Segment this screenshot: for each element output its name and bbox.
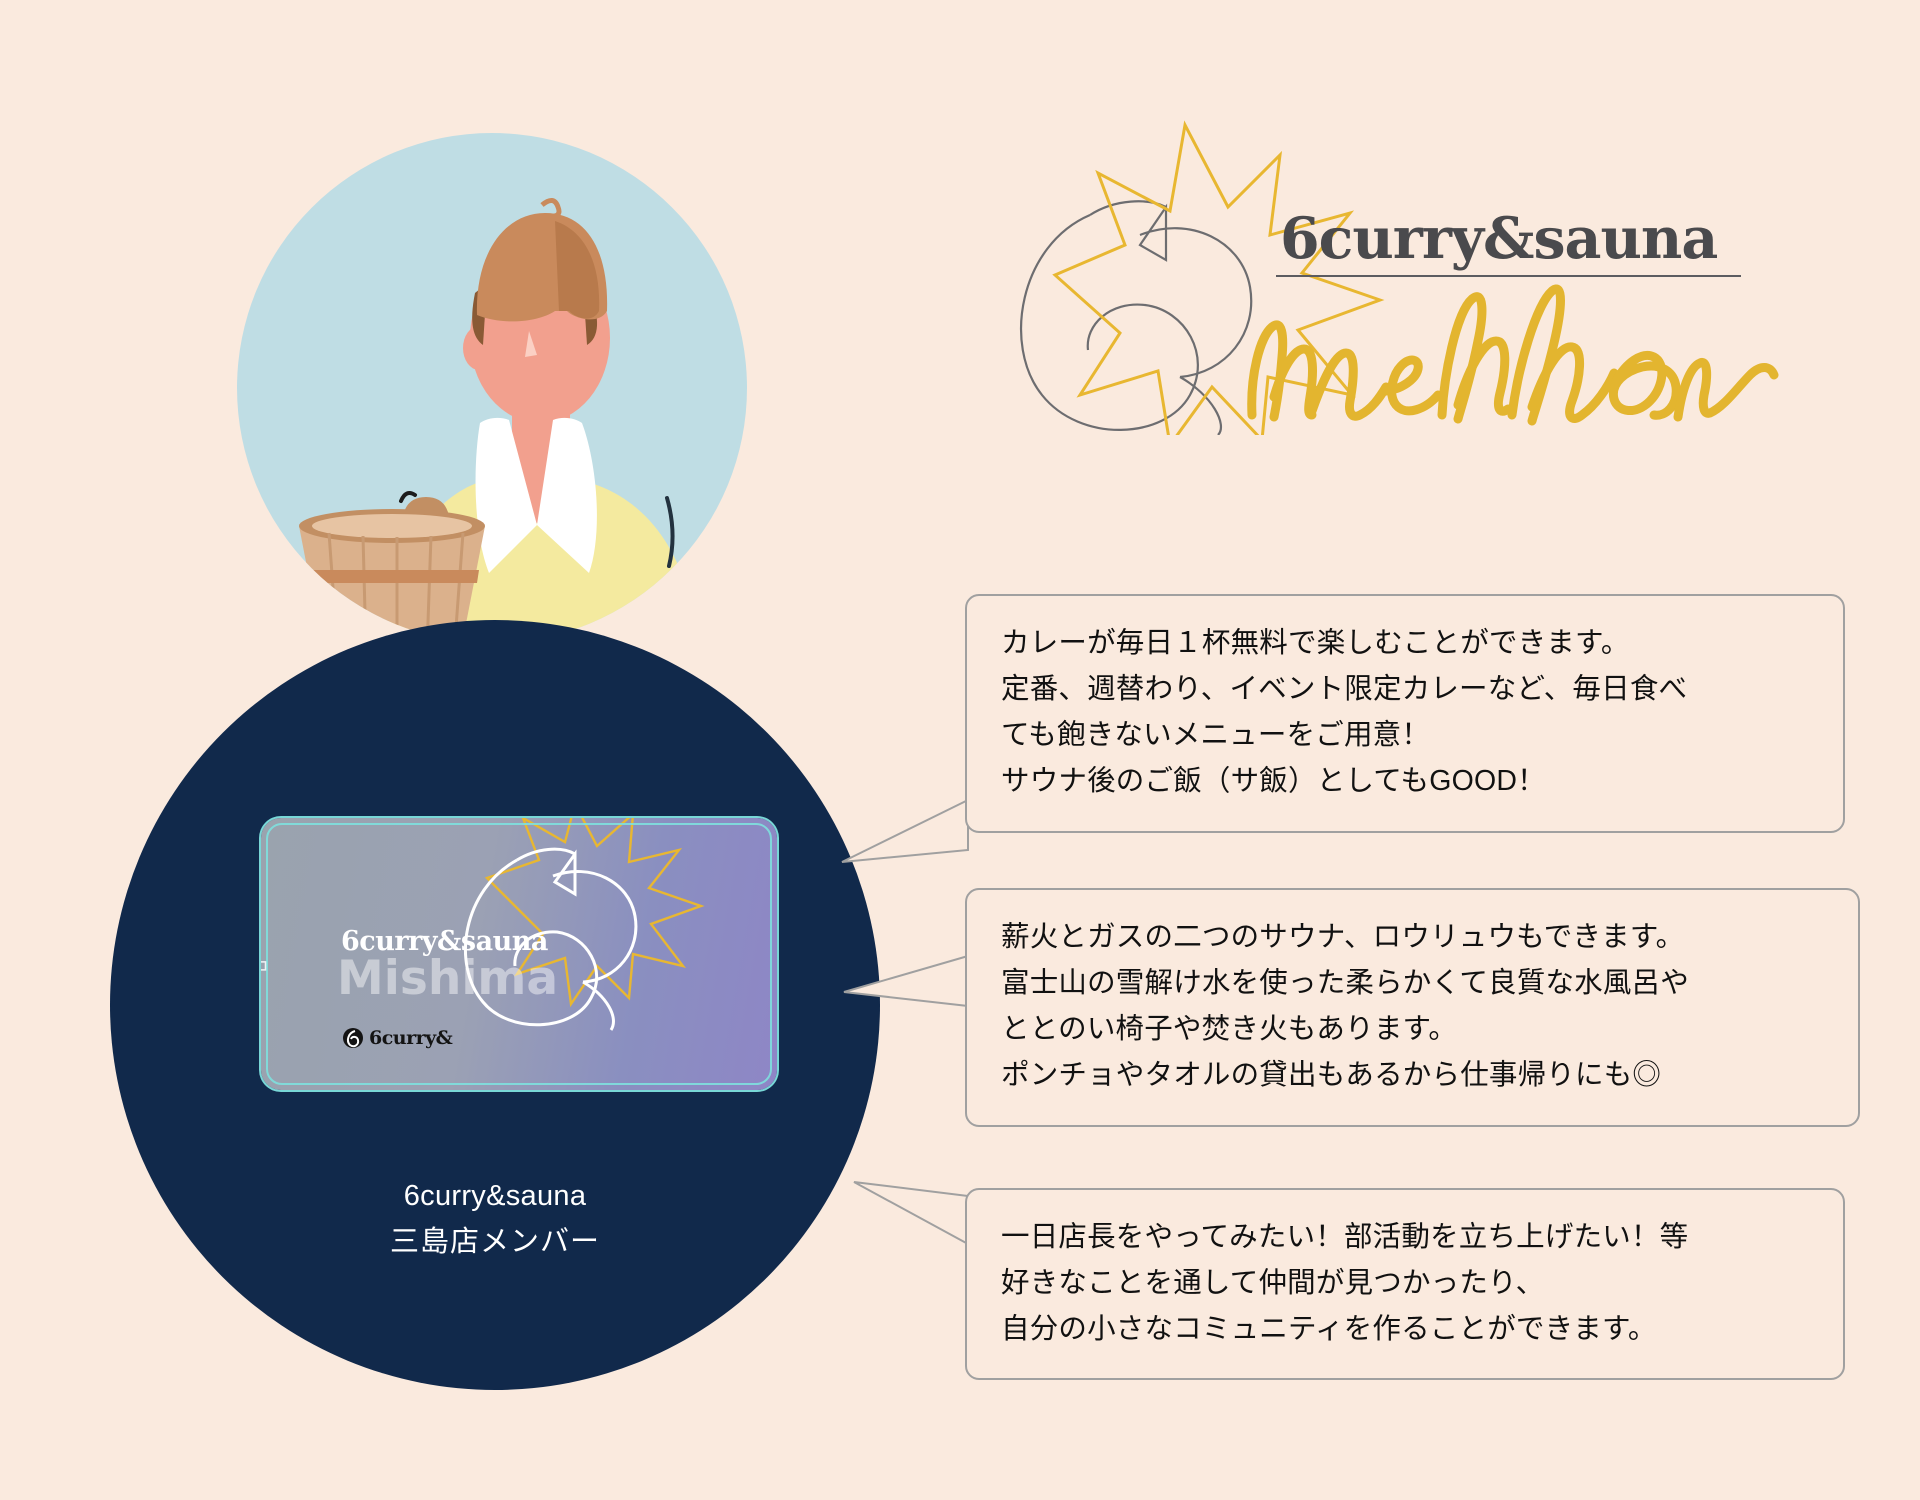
card-logo: 6curry&	[342, 1027, 452, 1049]
bubble-tail-2	[838, 948, 978, 1038]
card-city-name: Mishima	[337, 951, 558, 1006]
illustration-svg	[237, 133, 747, 643]
member-script-wordmark	[1230, 265, 1830, 445]
card-vertical-label: member	[261, 828, 273, 1078]
sauna-person-illustration	[237, 133, 747, 643]
six-curry-mark-icon	[1021, 201, 1251, 435]
card-logo-text: 6curry&	[369, 1027, 452, 1049]
caption-brand: 6curry&sauna	[110, 1175, 880, 1217]
card-caption: 6curry&sauna 三島店メンバー	[110, 1175, 880, 1263]
bubble-community: 一日店長をやってみたい！部活動を立ち上げたい！等 好きなことを通して仲間が見つか…	[965, 1188, 1845, 1380]
bubble-tail-1	[838, 790, 978, 900]
six-curry-mark-icon	[342, 1027, 364, 1049]
poster-canvas: 6curry&sauna	[0, 0, 1920, 1500]
bubble-curry: カレーが毎日１杯無料で楽しむことができます。 定番、週替わり、イベント限定カレー…	[965, 594, 1845, 833]
header-logo-block: 6curry&sauna	[980, 95, 1800, 435]
bubble-tail-3	[848, 1172, 978, 1282]
bubble-sauna: 薪火とガスの二つのサウナ、ロウリュウもできます。 富士山の雪解け水を使った柔らか…	[965, 888, 1860, 1127]
membership-card[interactable]: member 6curry&sauna Mishima 6curry&	[261, 818, 777, 1090]
brand-wordmark: 6curry&sauna	[1280, 205, 1717, 272]
caption-store: 三島店メンバー	[110, 1221, 880, 1263]
